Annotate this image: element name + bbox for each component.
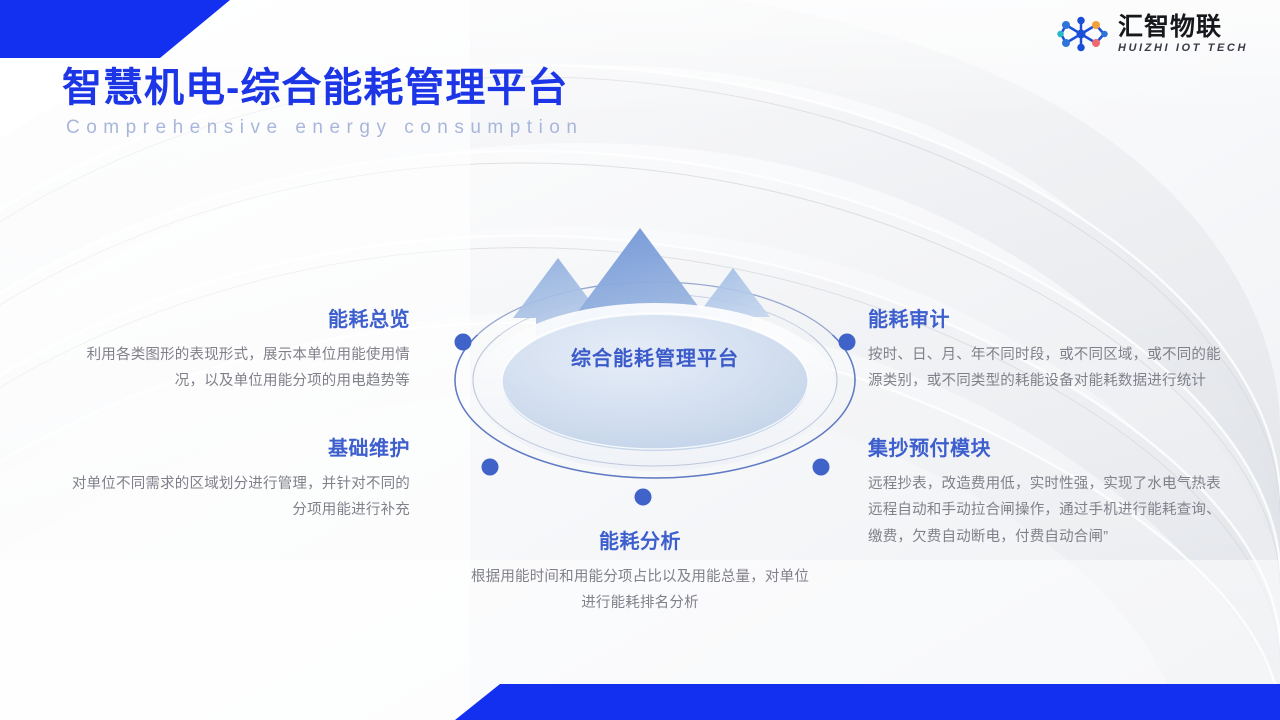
- feature-body-audit: 按时、日、月、年不同时段，或不同区域，或不同的能源类别，或不同类型的耗能设备对能…: [868, 342, 1228, 395]
- logo-name-en: HUIZHI IOT TECH: [1118, 43, 1248, 54]
- feature-title-prepay: 集抄预付模块: [868, 432, 1228, 461]
- feature-title-maintenance: 基础维护: [62, 432, 410, 461]
- feature-body-analysis: 根据用能时间和用能分项占比以及用能总量，对单位进行能耗排名分析: [470, 564, 810, 617]
- logo-name-cn: 汇智物联: [1118, 15, 1222, 40]
- feature-body-prepay: 远程抄表，改造费用低，实时性强，实现了水电气热表远程自动和手动拉合闸操作，通过手…: [868, 471, 1228, 550]
- feature-body-overview: 利用各类图形的表现形式，展示本单位用能使用情况，以及单位用能分项的用电趋势等: [62, 342, 410, 395]
- feature-block-prepay: 集抄预付模块 远程抄表，改造费用低，实时性强，实现了水电气热表远程自动和手动拉合…: [868, 432, 1228, 550]
- feature-block-overview: 能耗总览 利用各类图形的表现形式，展示本单位用能使用情况，以及单位用能分项的用电…: [62, 303, 410, 395]
- page-title-block: 智慧机电-综合能耗管理平台 Comprehensive energy consu…: [62, 66, 583, 139]
- center-platform-label: 综合能耗管理平台: [440, 342, 870, 371]
- feature-block-maintenance: 基础维护 对单位不同需求的区域划分进行管理，并针对不同的分项用能进行补充: [62, 432, 410, 524]
- feature-title-audit: 能耗审计: [868, 303, 1228, 332]
- feature-title-overview: 能耗总览: [62, 303, 410, 332]
- bottom-right-accent-bar: [430, 684, 1280, 720]
- page-subtitle: Comprehensive energy consumption: [66, 117, 583, 139]
- brand-logo: 汇智物联 HUIZHI IOT TECH: [1056, 14, 1248, 54]
- slide-canvas: 智慧机电-综合能耗管理平台 Comprehensive energy consu…: [0, 0, 1280, 720]
- molecule-network-icon: [1056, 14, 1110, 54]
- feature-block-analysis: 能耗分析 根据用能时间和用能分项占比以及用能总量，对单位进行能耗排名分析: [470, 525, 810, 617]
- feature-block-audit: 能耗审计 按时、日、月、年不同时段，或不同区域，或不同的能源类别，或不同类型的耗…: [868, 303, 1228, 395]
- feature-title-analysis: 能耗分析: [470, 525, 810, 554]
- feature-body-maintenance: 对单位不同需求的区域划分进行管理，并针对不同的分项用能进行补充: [62, 471, 410, 524]
- page-title: 智慧机电-综合能耗管理平台: [62, 66, 583, 111]
